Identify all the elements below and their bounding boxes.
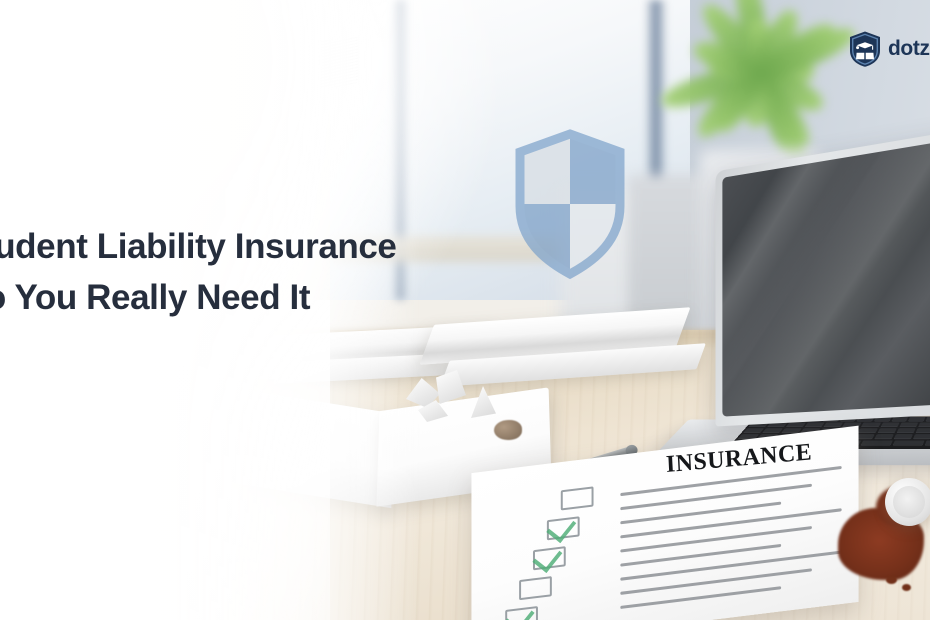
keyboard-key — [896, 428, 915, 433]
keyboard-key — [861, 422, 880, 427]
laptop-screen — [722, 136, 930, 417]
keyboard-key — [893, 434, 913, 439]
document-checkbox[interactable] — [505, 606, 538, 620]
white-fade-overlay — [0, 300, 330, 620]
coffee-droplet — [886, 576, 897, 584]
coffee-cup-rim — [893, 486, 925, 518]
document-checkbox[interactable] — [547, 516, 580, 540]
keyboard-key — [925, 440, 930, 445]
page-title: Student Liability Insurance Do You Reall… — [0, 222, 480, 324]
brand-name: dotze — [888, 37, 930, 61]
keyboard-key — [899, 422, 918, 427]
screen-glare — [722, 136, 930, 417]
laptop-lid — [716, 126, 930, 426]
headline-line-2: Do You Really Need It — [0, 273, 480, 324]
keyboard-key — [891, 417, 908, 422]
shield-graduation-cap-icon — [848, 30, 882, 68]
coffee-droplet — [902, 584, 911, 591]
keyboard-key — [874, 434, 894, 439]
keyboard-key — [893, 440, 925, 445]
keyboard-key — [908, 417, 925, 422]
document-line — [620, 484, 811, 510]
keyboard-key — [877, 428, 897, 433]
keyboard-key — [762, 428, 783, 433]
potted-plant — [660, 0, 860, 160]
headline-line-1: Student Liability Insurance — [0, 227, 397, 266]
document-line — [620, 526, 811, 552]
keyboard-key — [858, 428, 878, 433]
laptop — [690, 150, 930, 460]
keyboard-key — [880, 422, 899, 427]
keyboard-key — [913, 434, 930, 439]
keyboard-key — [926, 417, 930, 422]
document-line — [620, 551, 841, 581]
keyboard-key — [915, 428, 930, 433]
document-line — [620, 508, 841, 538]
document-line — [620, 568, 811, 594]
keyboard-key — [786, 422, 806, 427]
document-checkbox[interactable] — [519, 576, 552, 600]
coffee-cup — [885, 478, 930, 526]
brand-logo[interactable]: dotze — [848, 30, 930, 68]
keyboard-key — [860, 440, 893, 445]
keyboard-key — [805, 422, 825, 427]
document-checkbox[interactable] — [533, 546, 566, 570]
keyboard-key — [824, 422, 844, 427]
document-text-lines — [620, 465, 850, 620]
hero-banner: INSURANCE Student Liability Insurance Do… — [0, 0, 930, 620]
keyboard-key — [918, 422, 930, 427]
document-checkbox-list — [505, 481, 634, 620]
